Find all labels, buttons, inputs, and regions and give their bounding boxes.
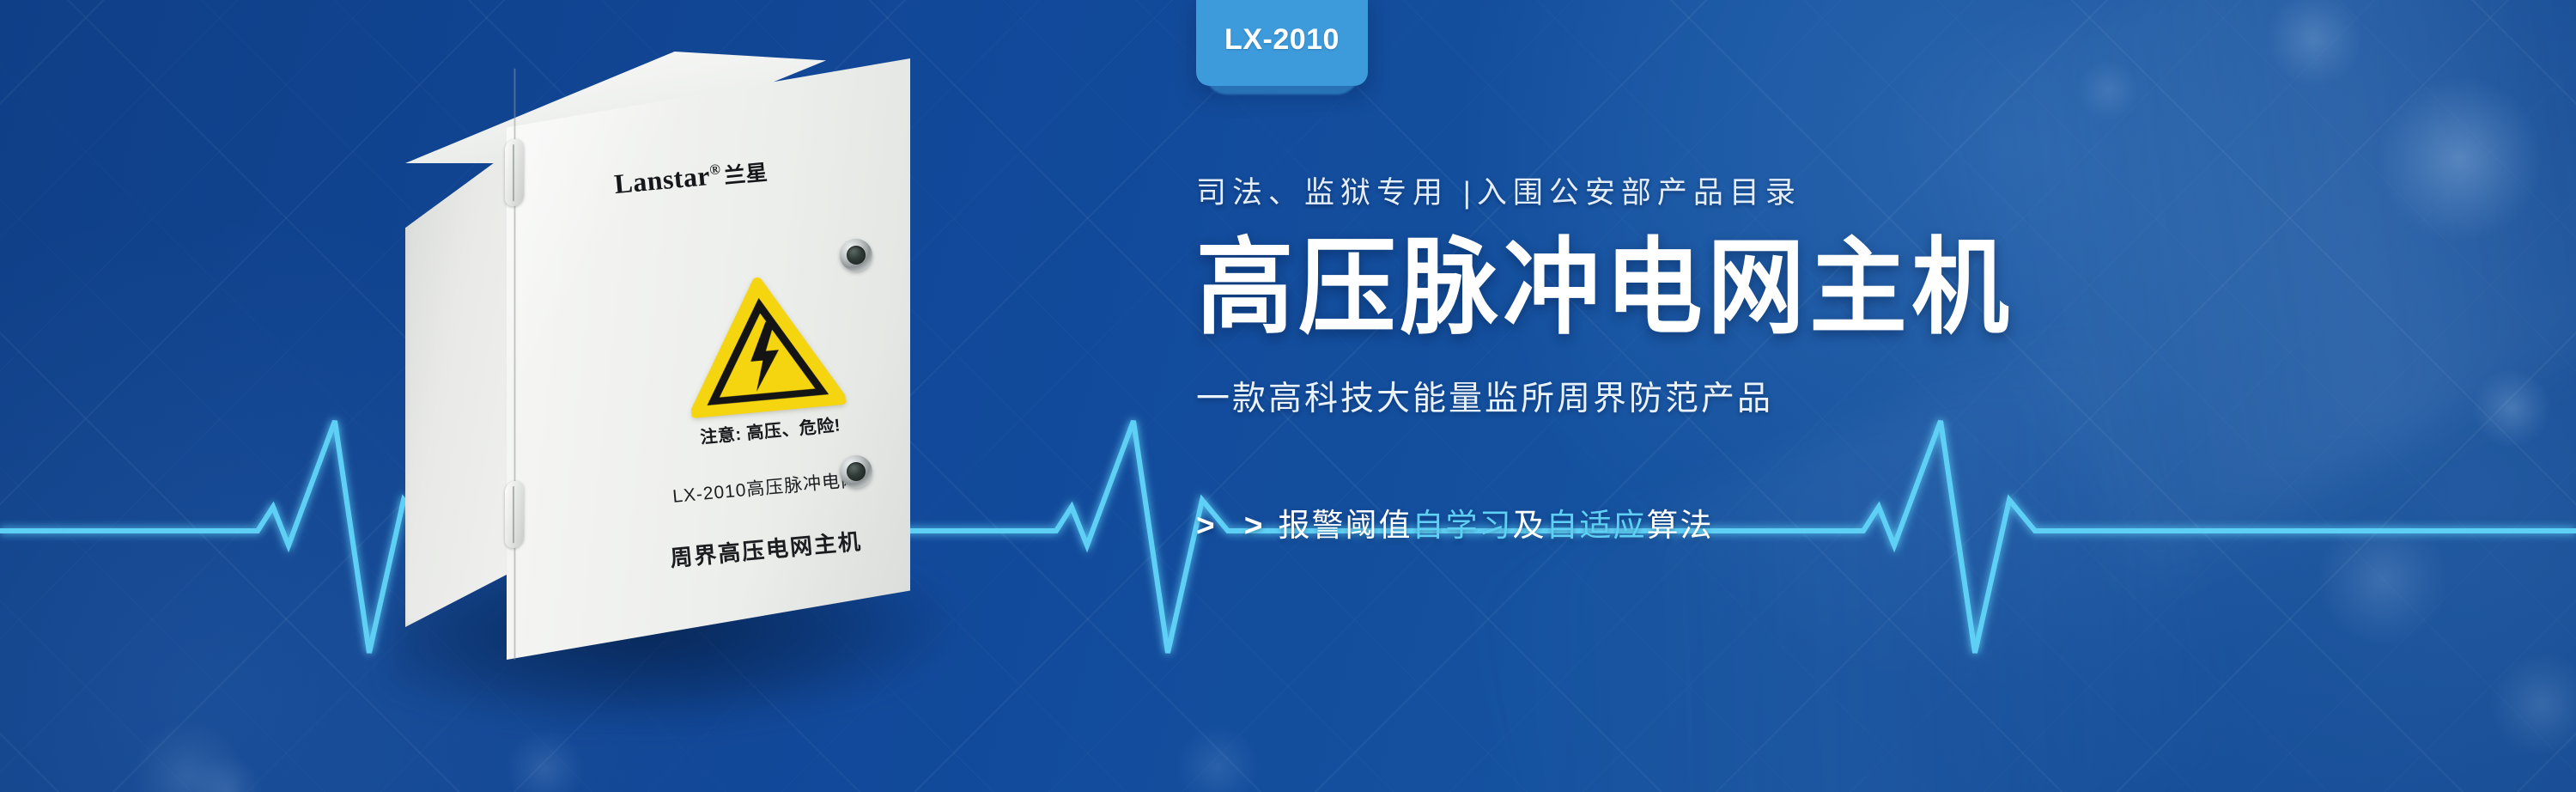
feature-highlight-2: 自适应 [1546,508,1647,543]
indicator-lamp-top [840,239,872,271]
bokeh-dot [2490,653,2576,756]
feature-text-part3: 算法 [1647,508,1714,543]
indicator-lamp-bottom [840,455,872,488]
cabinet-side-panel [405,146,517,627]
bokeh-dot [193,756,262,792]
feature-highlight-1: 自学习 [1413,508,1513,543]
banner-feature-line: > >报警阈值自学习及自适应算法 [1196,499,2501,545]
banner-headline: 高压脉冲电网主机 [1196,235,2410,341]
feature-text-part2: 及 [1513,508,1546,543]
feature-text-part1: 报警阈值 [1279,508,1413,543]
cabinet-hinge-bottom [505,479,524,549]
banner-tagline: 一款高科技大能量监所周界防范产品 [1196,372,2501,420]
chevron-double-right-icon: > > [1196,508,1273,543]
bokeh-dot [1176,726,1258,792]
brand-chinese-text: 兰星 [723,161,769,189]
model-badge-label: LX-2010 [1224,23,1340,57]
bokeh-dot [133,722,245,792]
cabinet-hinge-top [505,137,524,207]
bokeh-dot [2267,0,2361,86]
banner-eyebrow: 司法、监狱专用 |入围公安部产品目录 [1196,168,2501,212]
brand-registered-mark: ® [708,161,721,178]
high-voltage-warning-label: 注意: 高压、危险! [665,267,864,451]
banner-copy-block: 司法、监狱专用 |入围公安部产品目录 高压脉冲电网主机 一款高科技大能量监所周界… [1196,168,2501,545]
warning-triangle-icon [679,268,846,419]
model-badge: LX-2010 [1196,0,1368,86]
bokeh-dot [507,730,584,792]
product-image-cabinet: Lanstar®兰星 注意: 高压、危险! LX-2010高压脉冲电网 周界高压… [369,52,1022,739]
product-hero-banner: Lanstar®兰星 注意: 高压、危险! LX-2010高压脉冲电网 周界高压… [0,0,2576,792]
bokeh-dot [2078,60,2138,120]
